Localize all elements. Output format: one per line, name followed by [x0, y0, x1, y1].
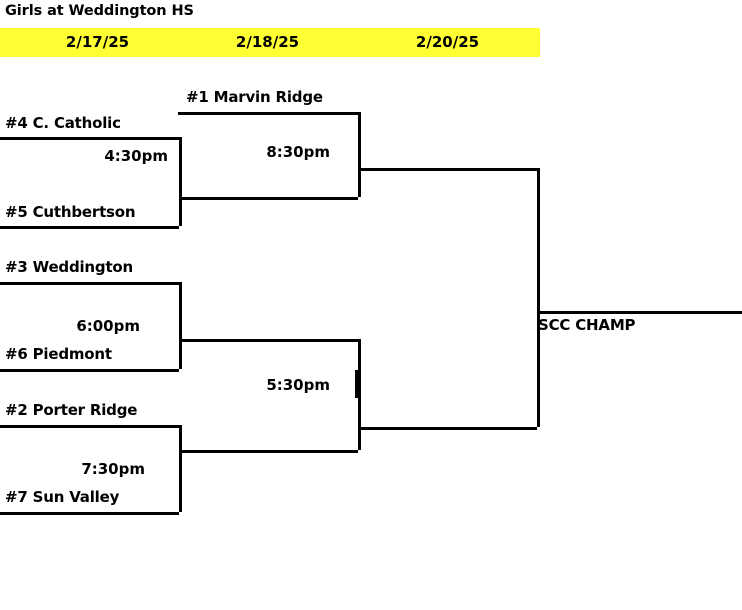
bracket-line-sf1-top — [178, 112, 358, 115]
game-time-530pm: 5:30pm — [186, 376, 330, 394]
date-round-3: 2/20/25 — [370, 28, 525, 57]
team-1-marvin-ridge: #1 Marvin Ridge — [186, 88, 323, 106]
game-time-600pm: 6:00pm — [0, 317, 140, 335]
date-round-2: 2/18/25 — [190, 28, 345, 57]
team-5-cuthbertson: #5 Cuthbertson — [5, 203, 135, 221]
bracket-line-sf2-bottom — [179, 450, 358, 453]
team-7-sun-valley: #7 Sun Valley — [5, 488, 119, 506]
bracket-page: Girls at Weddington HS 2/17/25 2/18/25 2… — [0, 0, 742, 610]
team-3-weddington: #3 Weddington — [5, 258, 133, 276]
bracket-line-g1-bottom — [0, 226, 179, 229]
team-4-c-catholic: #4 C. Catholic — [5, 114, 121, 132]
bracket-line-g1-top — [0, 137, 179, 140]
game-time-830pm: 8:30pm — [186, 143, 330, 161]
bracket-line-g2-bottom — [0, 369, 179, 372]
bracket-line-champion — [537, 311, 742, 314]
bracket-connector-g2 — [179, 282, 182, 369]
bracket-line-sf2-top — [179, 339, 358, 342]
bracket-line-g3-top — [0, 425, 179, 428]
team-6-piedmont: #6 Piedmont — [5, 345, 112, 363]
bracket-connector-final — [537, 168, 540, 427]
bracket-line-sf1-bottom — [179, 197, 358, 200]
bracket-line-g2-top — [0, 282, 179, 285]
bracket-connector-g3 — [179, 425, 182, 512]
date-header-bar: 2/17/25 2/18/25 2/20/25 — [0, 28, 540, 57]
bracket-line-final-top — [358, 168, 537, 171]
bracket-connector-sf2-artifact — [355, 370, 360, 398]
bracket-line-final-bottom — [358, 427, 537, 430]
page-title: Girls at Weddington HS — [5, 3, 194, 19]
game-time-430pm: 4:30pm — [0, 147, 168, 165]
bracket-line-g3-bottom — [0, 512, 179, 515]
date-round-1: 2/17/25 — [20, 28, 175, 57]
game-time-730pm: 7:30pm — [0, 460, 145, 478]
bracket-connector-sf1 — [358, 112, 361, 197]
team-2-porter-ridge: #2 Porter Ridge — [5, 401, 137, 419]
champion-label: SCC CHAMP — [538, 316, 635, 334]
bracket-connector-g1 — [179, 137, 182, 226]
